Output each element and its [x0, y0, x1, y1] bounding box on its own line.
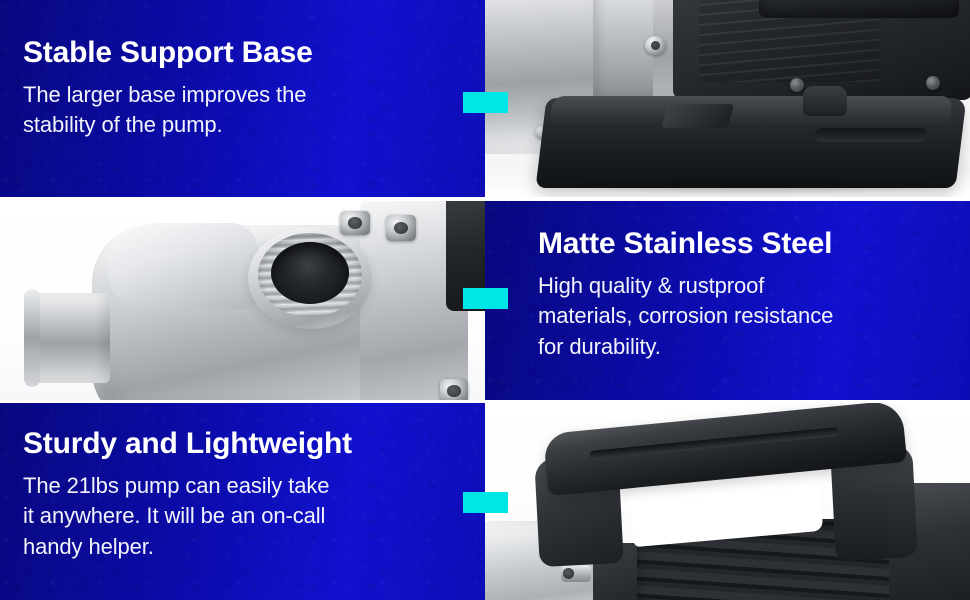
support-base-slot-shape — [814, 128, 928, 142]
feature-panel-stable-support-base: Stable Support Base The larger base impr… — [0, 0, 485, 197]
hex-nut-shape — [440, 379, 468, 400]
feature-description-line: The larger base improves the — [23, 82, 306, 107]
feature-description-sturdy-and-lightweight: The 21lbs pump can easily take it anywhe… — [23, 471, 453, 563]
accent-connector-bar-3 — [463, 492, 508, 513]
support-base-rib-shape — [662, 104, 735, 128]
feature-description-matte-stainless-steel: High quality & rustproof materials, corr… — [538, 271, 950, 363]
pump-body-hump-shape — [108, 223, 258, 309]
screw-shape — [926, 76, 940, 90]
feature-panel-matte-stainless-steel: Matte Stainless Steel High quality & rus… — [485, 201, 970, 400]
screw-shape — [790, 78, 804, 92]
feature-title-sturdy-and-lightweight: Sturdy and Lightweight — [23, 427, 453, 461]
feature-photo-stainless-pump-body — [0, 201, 485, 400]
threaded-port-bore-shape — [271, 242, 349, 304]
stud-shape — [561, 565, 591, 582]
hex-nut-shape — [340, 211, 370, 235]
feature-title-stable-support-base: Stable Support Base — [23, 36, 423, 70]
support-base-knob-shape — [803, 86, 847, 116]
feature-description-line: stability of the pump. — [23, 112, 223, 137]
contact-shadow — [545, 178, 965, 194]
accent-connector-bar-2 — [463, 288, 508, 309]
feature-description-line: materials, corrosion resistance — [538, 303, 833, 328]
feature-description-line: handy helper. — [23, 534, 154, 559]
hex-nut-shape — [386, 215, 416, 241]
feature-description-stable-support-base: The larger base improves the stability o… — [23, 80, 423, 142]
feature-photo-pump-support-base — [485, 0, 970, 197]
bolt-shape — [645, 36, 666, 55]
accent-connector-bar-1 — [463, 92, 508, 113]
support-base-top-shape — [549, 96, 953, 126]
photo-support-base-illustration — [485, 0, 970, 197]
feature-photo-carry-handle — [485, 403, 970, 600]
capacitor-box-shape — [759, 0, 959, 18]
feature-description-line: it anywhere. It will be an on-call — [23, 503, 325, 528]
feature-description-line: for durability. — [538, 334, 661, 359]
photo-pump-body-illustration — [0, 201, 485, 400]
feature-description-line: The 21lbs pump can easily take — [23, 473, 329, 498]
photo-carry-handle-illustration — [485, 403, 970, 600]
feature-infographic: Stable Support Base The larger base impr… — [0, 0, 970, 600]
feature-description-line: High quality & rustproof — [538, 273, 764, 298]
outlet-nozzle-lip-shape — [24, 289, 40, 387]
feature-title-matte-stainless-steel: Matte Stainless Steel — [538, 227, 950, 261]
feature-panel-sturdy-and-lightweight: Sturdy and Lightweight The 21lbs pump ca… — [0, 403, 485, 600]
